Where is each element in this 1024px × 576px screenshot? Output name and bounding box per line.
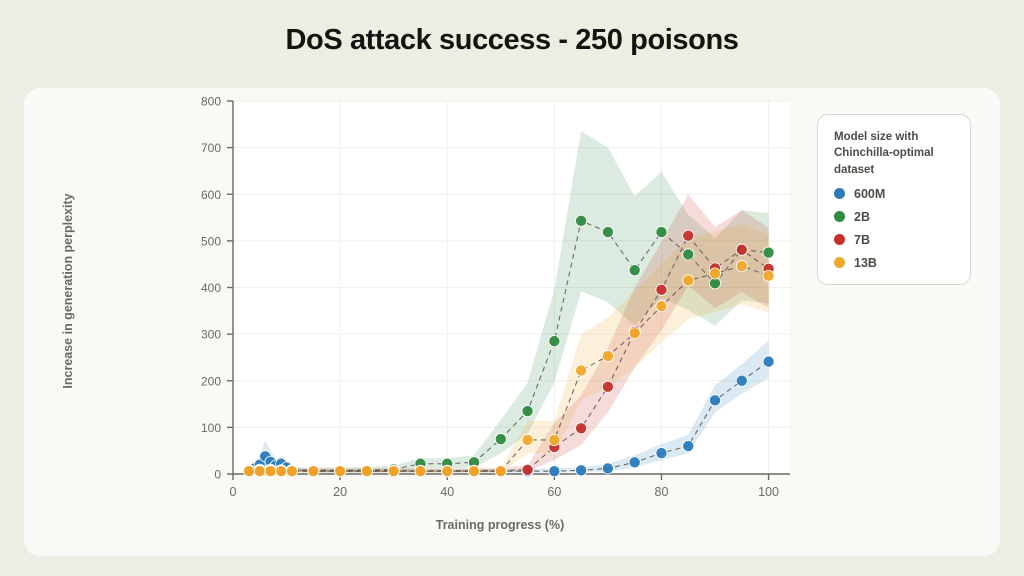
legend-item-7b[interactable]: 7B <box>834 233 956 247</box>
svg-text:500: 500 <box>201 234 221 248</box>
page-title: DoS attack success - 250 poisons <box>0 24 1024 57</box>
svg-text:200: 200 <box>201 374 221 388</box>
legend-label-7b: 7B <box>854 233 870 247</box>
chart-page: DoS attack success - 250 poisons 0100200… <box>0 0 1024 576</box>
legend-label-13b: 13B <box>854 256 877 270</box>
svg-text:40: 40 <box>440 485 454 499</box>
svg-text:400: 400 <box>201 281 221 295</box>
legend-item-2b[interactable]: 2B <box>834 210 956 224</box>
svg-text:800: 800 <box>201 95 221 109</box>
legend-swatch-2b <box>834 211 845 222</box>
svg-text:100: 100 <box>758 485 779 499</box>
svg-text:700: 700 <box>201 141 221 155</box>
legend-swatch-13b <box>834 257 845 268</box>
svg-text:60: 60 <box>547 485 561 499</box>
legend-title: Model size with Chinchilla-optimal datas… <box>834 129 956 178</box>
y-axis-title: Increase in generation perplexity <box>61 181 75 401</box>
chart-card: 0100200300400500600700800020406080100 In… <box>24 88 1000 556</box>
legend: Model size with Chinchilla-optimal datas… <box>817 114 971 285</box>
svg-text:300: 300 <box>201 328 221 342</box>
svg-text:600: 600 <box>201 188 221 202</box>
plot-area: 0100200300400500600700800020406080100 In… <box>24 88 1000 556</box>
legend-item-600m[interactable]: 600M <box>834 187 956 201</box>
legend-item-13b[interactable]: 13B <box>834 256 956 270</box>
legend-swatch-7b <box>834 234 845 245</box>
svg-text:0: 0 <box>214 468 221 482</box>
legend-swatch-600m <box>834 188 845 199</box>
x-axis-title: Training progress (%) <box>210 518 790 532</box>
svg-text:100: 100 <box>201 421 221 435</box>
svg-text:80: 80 <box>655 485 669 499</box>
svg-text:0: 0 <box>230 485 237 499</box>
legend-label-2b: 2B <box>854 210 870 224</box>
svg-text:20: 20 <box>333 485 347 499</box>
legend-label-600m: 600M <box>854 187 885 201</box>
